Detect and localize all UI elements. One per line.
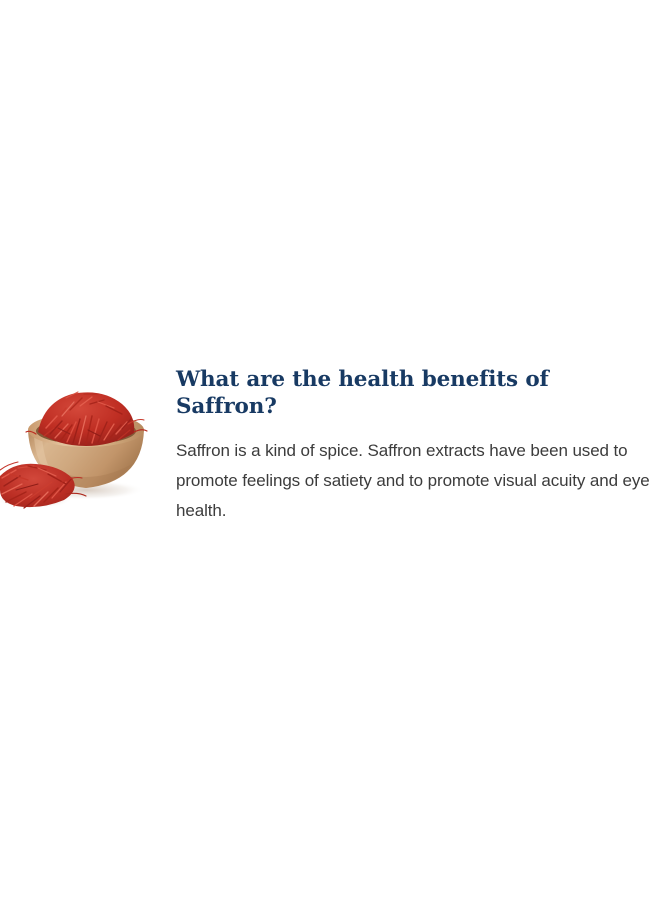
health-benefits-section: What are the health benefits of Saffron?… [0,366,660,526]
benefit-text-column: What are the health benefits of Saffron?… [176,366,660,526]
saffron-image-column [0,366,176,516]
saffron-bowl-image [0,378,160,518]
page-title: What are the health benefits of Saffron? [176,366,576,420]
benefit-description: Saffron is a kind of spice. Saffron extr… [176,436,660,526]
